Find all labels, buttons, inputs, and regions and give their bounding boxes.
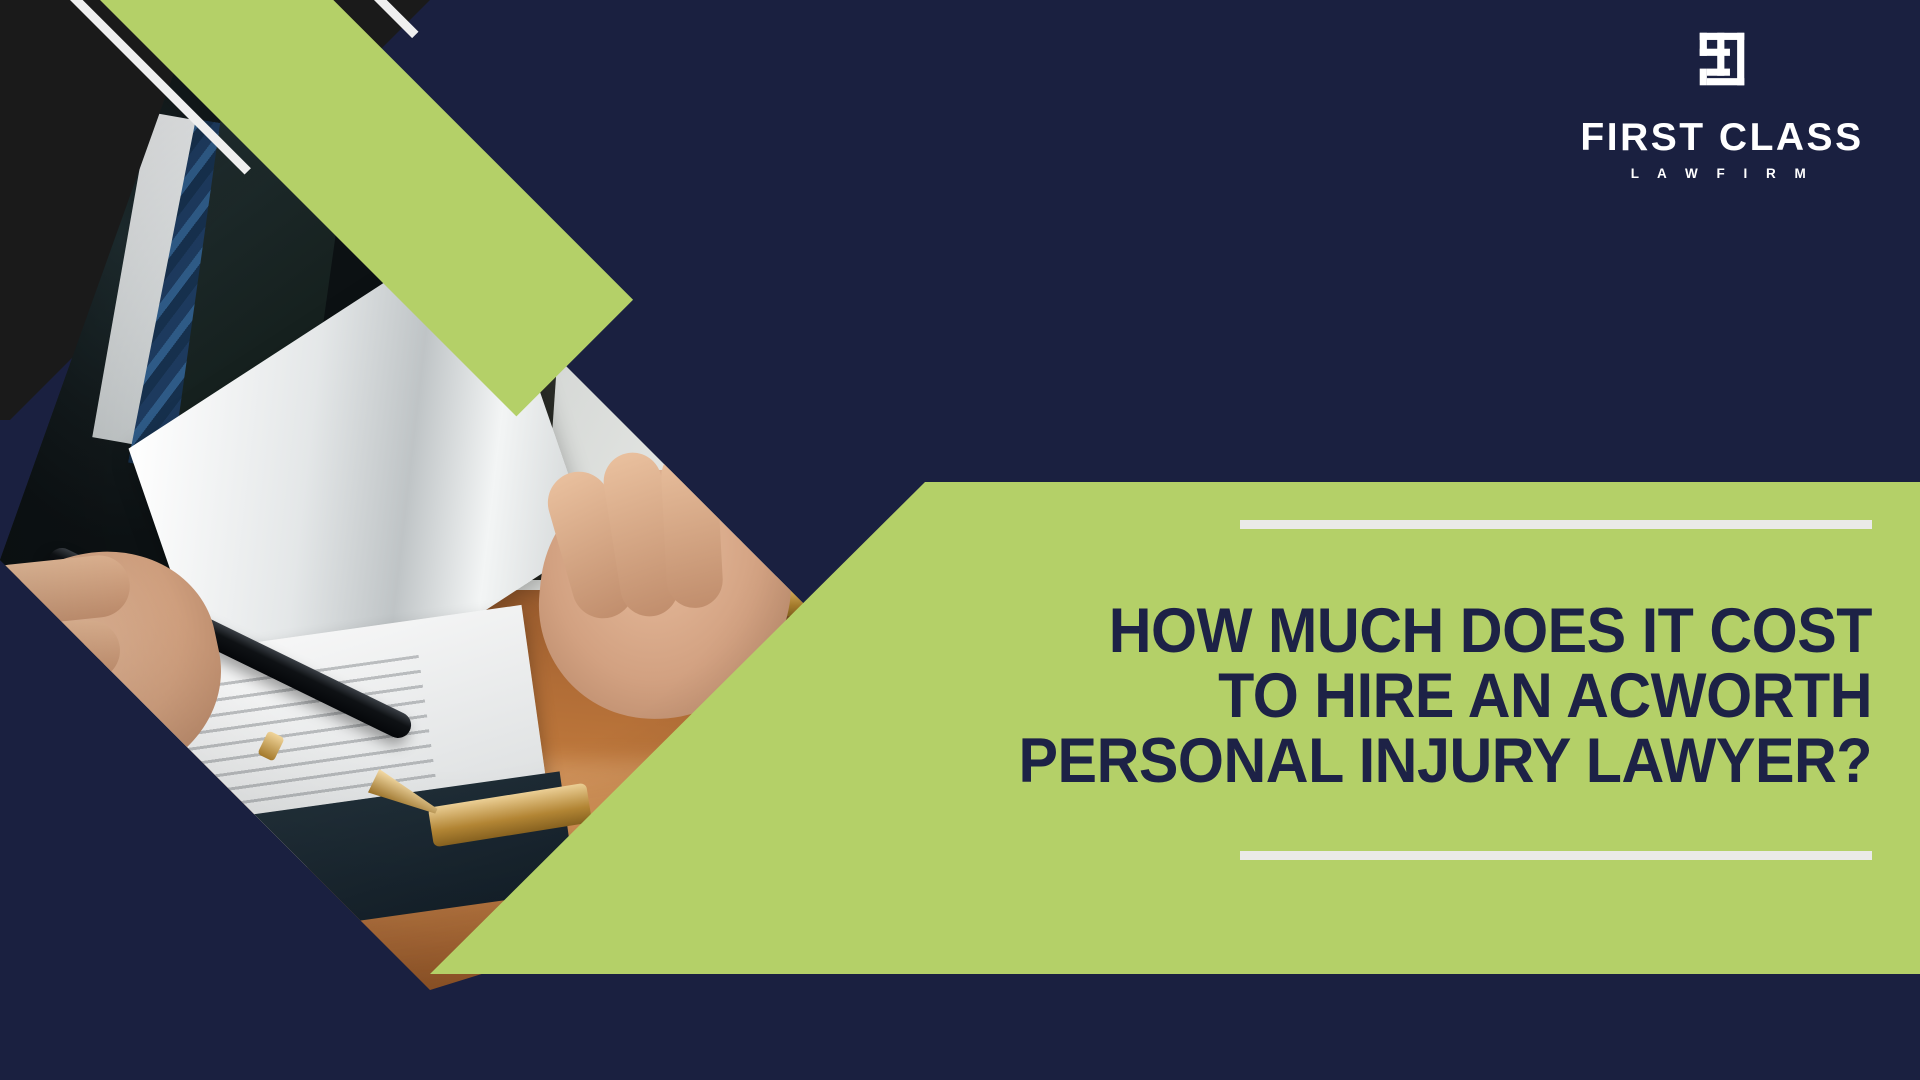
divider-top [1240,520,1872,529]
photo-scale-post [768,296,782,556]
logo-tagline: L A W F I R M [1572,166,1872,181]
brand-logo[interactable]: FIRST CLASS L A W F I R M [1572,28,1872,181]
divider-bottom [1240,851,1872,860]
headline-block: HOW MUCH DOES IT COST TO HIRE AN ACWORTH… [760,520,1872,860]
page-title: HOW MUCH DOES IT COST TO HIRE AN ACWORTH… [827,599,1872,795]
hero-banner: FIRST CLASS L A W F I R M HOW MUCH DOES … [0,0,1920,1080]
fc-monogram-icon [1682,28,1762,106]
photo-finger [0,680,107,743]
logo-wordmark: FIRST CLASS [1572,118,1872,157]
